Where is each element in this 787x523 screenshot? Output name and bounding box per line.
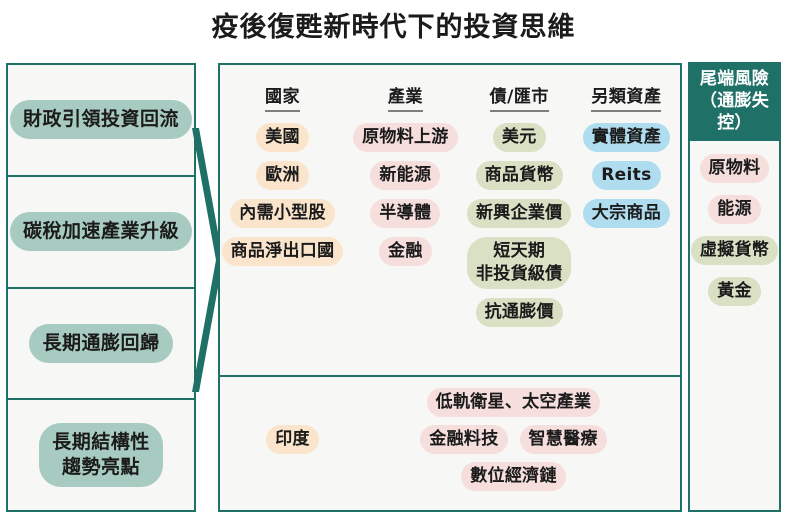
structural-theme-row: 金融料技 智慧醫療 (420, 425, 606, 462)
structural-theme-group: 低軌衛星、太空產業 金融料技 智慧醫療 數位經濟鏈 (365, 388, 680, 499)
asset-pill[interactable]: 低軌衛星、太空產業 (427, 388, 601, 417)
column-alternative-assets: 另類資產 實體資產 Reits 大宗商品 (573, 65, 680, 375)
asset-pill[interactable]: 半導體 (370, 199, 440, 228)
asset-pill[interactable]: 印度 (266, 425, 319, 454)
asset-pill[interactable]: 商品淨出口國 (222, 237, 344, 266)
asset-pill[interactable]: 美元 (493, 123, 546, 152)
sidebar-item-fiscal[interactable]: 財政引領投資回流 (6, 63, 196, 177)
column-header: 另類資產 (591, 82, 661, 112)
asset-pill[interactable]: 新興企業價 (467, 199, 572, 228)
structural-country-group: 印度 (220, 425, 365, 463)
theme-sidebar: 財政引領投資回流 碳稅加速產業升級 長期通膨回歸 長期結構性 趨勢亮點 (6, 63, 196, 512)
asset-pill[interactable]: 新能源 (370, 161, 440, 190)
page-title: 疫後復甦新時代下的投資思維 (0, 8, 787, 48)
column-country: 國家 美國 歐洲 內需小型股 商品淨出口國 (220, 65, 345, 375)
asset-pill[interactable]: 虛擬貨幣 (691, 236, 778, 265)
asset-pill[interactable]: 歐洲 (256, 161, 309, 190)
asset-pill[interactable]: 金融 (379, 237, 432, 266)
sidebar-item-label: 財政引領投資回流 (10, 100, 192, 139)
asset-pill[interactable]: 原物料上游 (353, 123, 458, 152)
asset-pill[interactable]: 商品貨幣 (476, 161, 563, 190)
asset-pill[interactable]: 金融料技 (420, 425, 507, 454)
asset-pill[interactable]: 智慧醫療 (520, 425, 607, 454)
structural-trend-row: 印度 低軌衛星、太空產業 金融料技 智慧醫療 數位經濟鏈 (220, 377, 680, 510)
asset-pill[interactable]: 短天期 非投貨級債 (467, 237, 572, 289)
column-header: 國家 (265, 82, 300, 112)
column-header: 債/匯市 (490, 82, 549, 112)
asset-pill[interactable]: 美國 (256, 123, 309, 152)
asset-pill[interactable]: Reits (592, 161, 660, 190)
sidebar-item-label: 長期結構性 趨勢亮點 (39, 423, 163, 487)
structural-theme-row: 數位經濟鏈 (461, 462, 566, 499)
chevron-right-arrow (190, 128, 218, 392)
tail-risk-column: 尾端風險 （通膨失控） 原物料 能源 虛擬貨幣 黃金 (688, 62, 781, 512)
asset-pill[interactable]: 黃金 (708, 277, 761, 306)
sidebar-item-carbon-tax[interactable]: 碳稅加速產業升級 (6, 175, 196, 289)
column-industry: 產業 原物料上游 新能源 半導體 金融 (345, 65, 466, 375)
asset-pill[interactable]: 實體資產 (583, 123, 670, 152)
sidebar-item-inflation[interactable]: 長期通膨回歸 (6, 287, 196, 401)
tail-risk-header: 尾端風險 （通膨失控） (688, 62, 781, 141)
asset-pill[interactable]: 抗通膨價 (476, 298, 563, 327)
structural-theme-row: 低軌衛星、太空產業 (427, 388, 601, 425)
asset-pill[interactable]: 數位經濟鏈 (461, 462, 566, 491)
sidebar-item-label: 碳稅加速產業升級 (10, 212, 192, 251)
sidebar-item-structural-trend[interactable]: 長期結構性 趨勢亮點 (6, 398, 196, 512)
asset-pill[interactable]: 能源 (708, 195, 761, 224)
column-header: 產業 (388, 82, 423, 112)
sidebar-item-label: 長期通膨回歸 (29, 324, 172, 363)
asset-pill[interactable]: 大宗商品 (583, 199, 670, 228)
tail-risk-items: 原物料 能源 虛擬貨幣 黃金 (688, 141, 781, 512)
asset-pill[interactable]: 內需小型股 (230, 199, 335, 228)
asset-columns: 國家 美國 歐洲 內需小型股 商品淨出口國 產業 原物料上游 新能源 半導體 金… (220, 65, 680, 377)
asset-allocation-panel: 國家 美國 歐洲 內需小型股 商品淨出口國 產業 原物料上游 新能源 半導體 金… (218, 63, 682, 512)
asset-pill[interactable]: 原物料 (700, 154, 770, 183)
column-bond-fx: 債/匯市 美元 商品貨幣 新興企業價 短天期 非投貨級債 抗通膨價 (466, 65, 573, 375)
